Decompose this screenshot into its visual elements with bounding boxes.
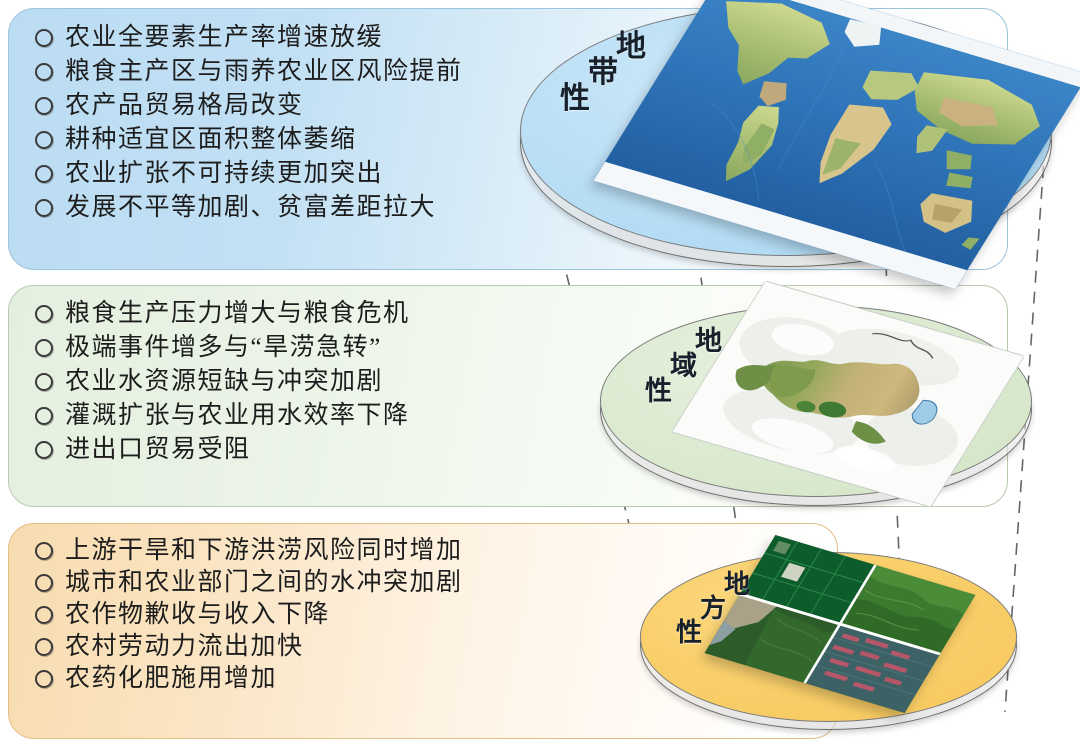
list-item-label: 粮食主产区与雨养农业区风险提前	[65, 59, 463, 84]
bullet-circle-icon	[35, 574, 53, 592]
label-char: 地	[724, 572, 750, 598]
list-item-label: 灌溉扩张与农业用水效率下降	[65, 403, 410, 428]
bullet-circle-icon	[35, 441, 53, 459]
bullet-circle-icon	[35, 407, 53, 425]
list-item-label: 上游干旱和下游洪涝风险同时增加	[65, 538, 463, 563]
label-char: 性	[676, 620, 750, 646]
bullet-circle-icon	[35, 199, 53, 217]
label-zonal: 地 带 性	[560, 32, 646, 114]
list-item-label: 农药化肥施用增加	[65, 666, 277, 691]
label-local: 地 方 性	[676, 572, 750, 646]
diagram-canvas: 农业全要素生产率增速放缓 粮食主产区与雨养农业区风险提前 农产品贸易格局改变 耕…	[0, 0, 1080, 747]
bullet-circle-icon	[35, 373, 53, 391]
label-regional: 地 域 性	[645, 328, 722, 405]
label-char: 性	[645, 378, 722, 405]
bullet-circle-icon	[35, 165, 53, 183]
bullet-circle-icon	[35, 305, 53, 323]
bullet-circle-icon	[35, 542, 53, 560]
list-item-label: 农业水资源短缺与冲突加剧	[65, 369, 383, 394]
list-item-label: 农业全要素生产率增速放缓	[65, 25, 383, 50]
bullet-circle-icon	[35, 339, 53, 357]
bullet-circle-icon	[35, 606, 53, 624]
label-char: 域	[670, 353, 722, 380]
list-item-label: 进出口贸易受阻	[65, 437, 251, 462]
list-item-label: 农村劳动力流出加快	[65, 634, 304, 659]
list-item-label: 城市和农业部门之间的水冲突加剧	[65, 570, 463, 595]
bullet-circle-icon	[35, 638, 53, 656]
label-char: 地	[695, 328, 722, 355]
bullet-circle-icon	[35, 97, 53, 115]
bullet-circle-icon	[35, 63, 53, 81]
list-item-label: 极端事件增多与“旱涝急转”	[65, 335, 382, 360]
label-char: 地	[616, 32, 646, 62]
list-item-label: 农作物歉收与收入下降	[65, 602, 330, 627]
bullet-circle-icon	[35, 29, 53, 47]
list-item-label: 农产品贸易格局改变	[65, 93, 304, 118]
list-item-label: 农业扩张不可持续更加突出	[65, 161, 383, 186]
list-item-label: 发展不平等加剧、贫富差距拉大	[65, 195, 436, 220]
list-item-label: 耕种适宜区面积整体萎缩	[65, 127, 357, 152]
bullet-circle-icon	[35, 670, 53, 688]
bullet-circle-icon	[35, 131, 53, 149]
label-char: 方	[700, 596, 750, 622]
list-item-label: 粮食生产压力增大与粮食危机	[65, 301, 410, 326]
